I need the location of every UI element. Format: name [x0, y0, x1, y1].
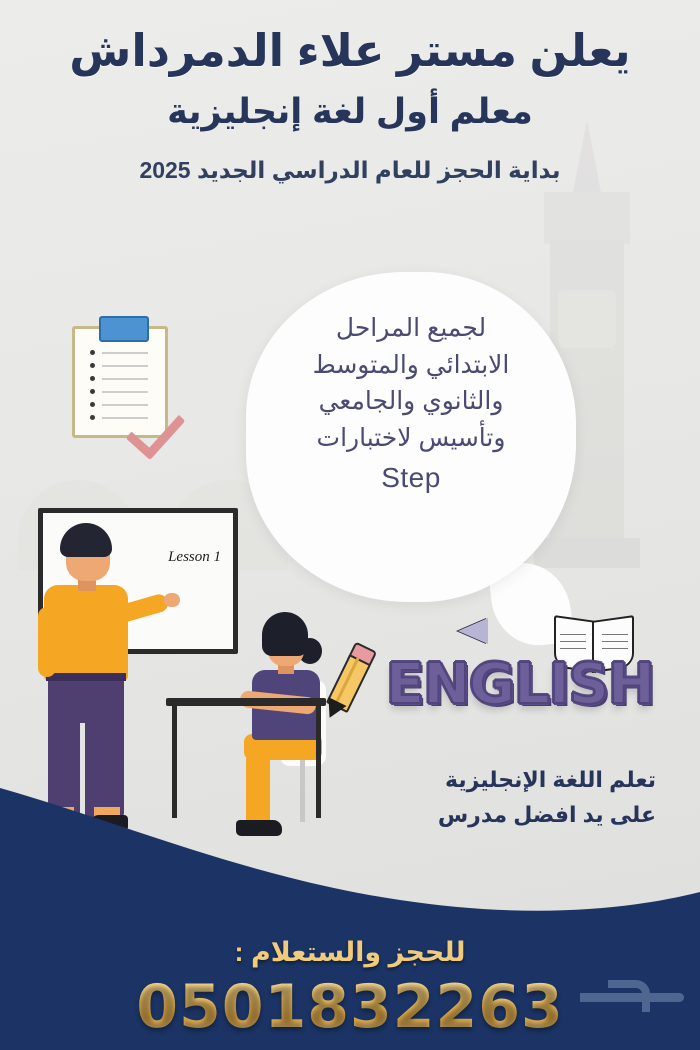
book-line: [560, 634, 586, 635]
triangle-icon: [458, 618, 488, 644]
heading-block: يعلن مستر علاء الدمرداش معلم أول لغة إنج…: [0, 0, 700, 185]
clipboard-bullet: [90, 376, 95, 381]
teacher-belt: [46, 673, 126, 681]
poster-root: يعلن مستر علاء الدمرداش معلم أول لغة إنج…: [0, 0, 700, 1050]
page-title: يعلن مستر علاء الدمرداش: [0, 24, 700, 77]
student-hair: [262, 612, 308, 656]
bubble-line-2: الابتدائي والمتوسط: [280, 347, 542, 384]
teacher-arm-left: [38, 607, 56, 677]
teacher-hair: [60, 523, 112, 557]
watermark-hook: [608, 980, 650, 1012]
clipboard-line: [102, 365, 148, 367]
bubble-step-label: Step: [280, 458, 542, 499]
bubble-line-4: وتأسيس لاختبارات: [280, 420, 542, 457]
speech-bubble: لجميع المراحل الابتدائي والمتوسط والثانو…: [246, 272, 576, 602]
clipboard-bullet: [90, 389, 95, 394]
teacher-torso: [44, 585, 128, 681]
desk-top: [166, 698, 326, 706]
english-logo-block: ENGLISH: [330, 612, 670, 732]
bubble-line-3: والثانوي والجامعي: [280, 383, 542, 420]
pencil-icon: [322, 641, 373, 718]
clipboard-line: [102, 352, 148, 354]
clipboard-line: [102, 404, 148, 406]
clipboard-line: [102, 391, 148, 393]
bubble-line-1: لجميع المراحل: [280, 310, 542, 347]
book-line: [602, 648, 628, 649]
book-line: [602, 641, 628, 642]
page-tertiary-title: بداية الحجز للعام الدراسي الجديد 2025: [0, 157, 700, 185]
book-line: [560, 641, 586, 642]
clipboard-bullet: [90, 363, 95, 368]
teacher-hand: [164, 593, 180, 607]
clipboard-bullet: [90, 350, 95, 355]
whiteboard-label: Lesson 1: [168, 549, 221, 566]
speech-bubble-text: لجميع المراحل الابتدائي والمتوسط والثانو…: [246, 310, 576, 499]
site-watermark-icon: [572, 980, 684, 1014]
contact-label: للحجز والستعلام :: [0, 937, 700, 968]
clipboard-bullet: [90, 415, 95, 420]
clipboard-checklist-icon: [72, 326, 168, 438]
clipboard-line: [102, 378, 148, 380]
page-subtitle: معلم أول لغة إنجليزية: [0, 91, 700, 133]
book-line: [560, 648, 586, 649]
clipboard-bullet: [90, 402, 95, 407]
clipboard-clip: [99, 316, 149, 342]
big-ben-belfry: [544, 192, 630, 244]
clipboard-line: [102, 417, 148, 419]
book-line: [602, 634, 628, 635]
english-wordmark: ENGLISH: [386, 652, 654, 717]
